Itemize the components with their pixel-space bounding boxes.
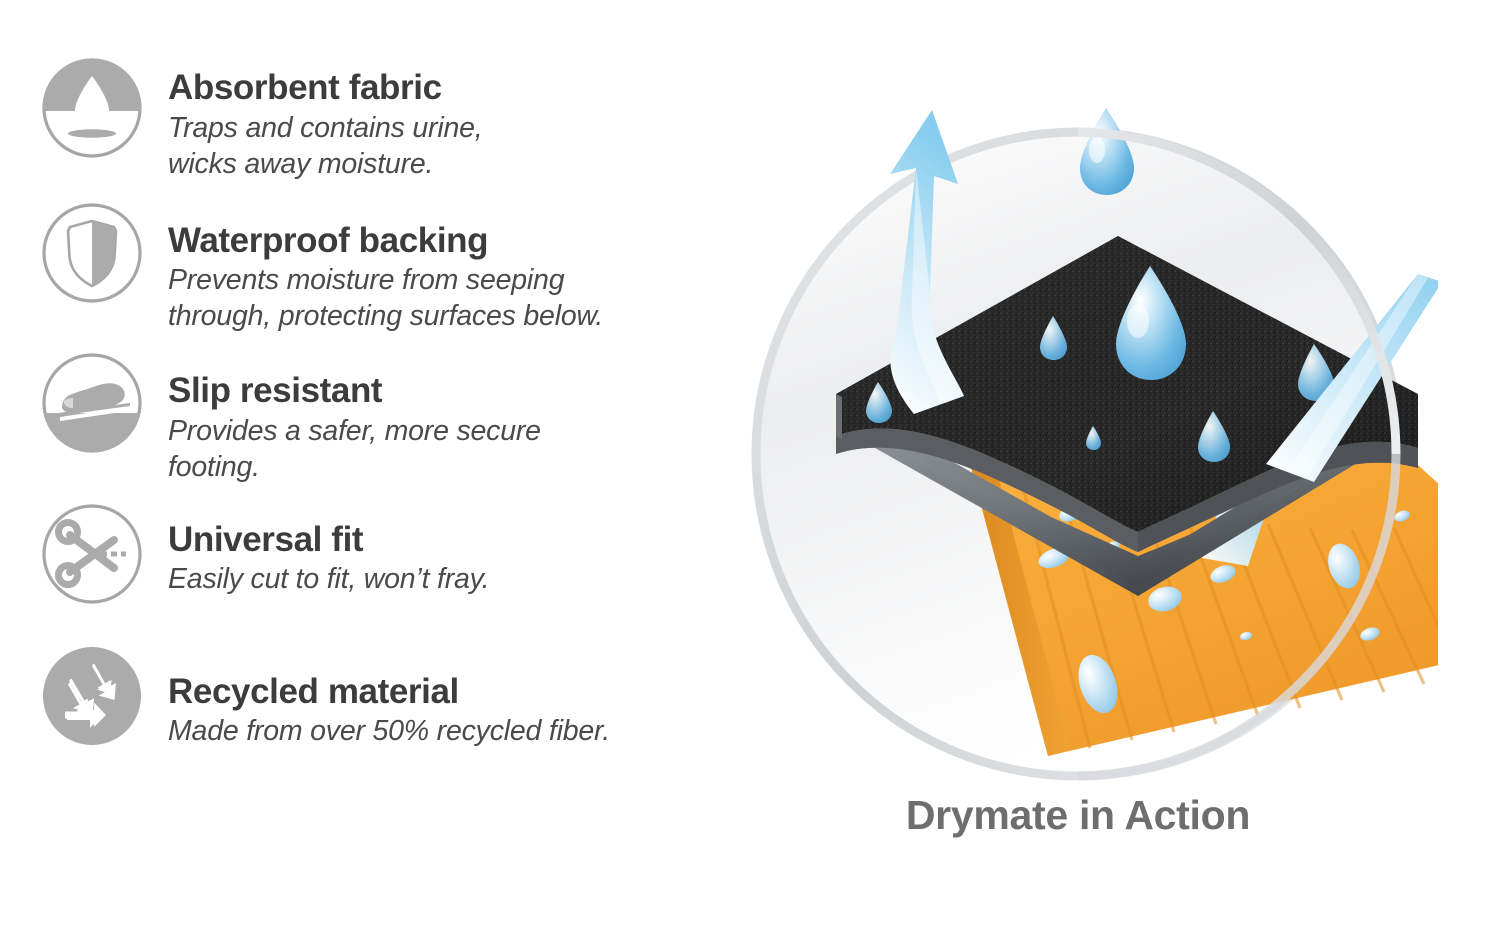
feature-title: Slip resistant bbox=[168, 373, 541, 410]
product-feature-infographic: Absorbent fabric Traps and contains urin… bbox=[0, 0, 1500, 944]
recycle-icon bbox=[38, 640, 146, 752]
illustration-caption: Drymate in Action bbox=[718, 792, 1438, 839]
feature-description: Provides a safer, more secure footing. bbox=[168, 414, 541, 486]
feature-text-block: Slip resistant Provides a safer, more se… bbox=[168, 347, 541, 486]
feature-item-slip-resistant: Slip resistant Provides a safer, more se… bbox=[38, 347, 698, 486]
feature-description: Prevents moisture from seeping through, … bbox=[168, 263, 603, 335]
feature-item-universal-fit: Universal fit Easily cut to fit, won’t f… bbox=[38, 498, 698, 610]
feature-description: Traps and contains urine, wicks away moi… bbox=[168, 111, 482, 183]
water-droplet-falling bbox=[1080, 108, 1134, 195]
drymate-cutaway-illustration bbox=[718, 96, 1438, 816]
shield-icon bbox=[38, 197, 146, 309]
feature-title: Waterproof backing bbox=[168, 223, 603, 260]
feature-title: Universal fit bbox=[168, 522, 489, 559]
feature-text-block: Waterproof backing Prevents moisture fro… bbox=[168, 197, 603, 336]
feature-item-absorbent-fabric: Absorbent fabric Traps and contains urin… bbox=[38, 52, 698, 183]
feature-text-block: Absorbent fabric Traps and contains urin… bbox=[168, 52, 482, 183]
feature-description: Made from over 50% recycled fiber. bbox=[168, 714, 610, 750]
feature-description: Easily cut to fit, won’t fray. bbox=[168, 562, 489, 598]
feature-text-block: Recycled material Made from over 50% rec… bbox=[168, 640, 610, 751]
feature-item-recycled-material: Recycled material Made from over 50% rec… bbox=[38, 640, 698, 752]
feature-title: Absorbent fabric bbox=[168, 70, 482, 107]
scissors-icon bbox=[38, 498, 146, 610]
shoe-slip-icon bbox=[38, 347, 146, 459]
water-drop-absorb-icon bbox=[38, 52, 146, 164]
feature-list: Absorbent fabric Traps and contains urin… bbox=[38, 52, 698, 752]
feature-text-block: Universal fit Easily cut to fit, won’t f… bbox=[168, 498, 489, 599]
feature-title: Recycled material bbox=[168, 674, 610, 711]
feature-item-waterproof-backing: Waterproof backing Prevents moisture fro… bbox=[38, 197, 698, 336]
